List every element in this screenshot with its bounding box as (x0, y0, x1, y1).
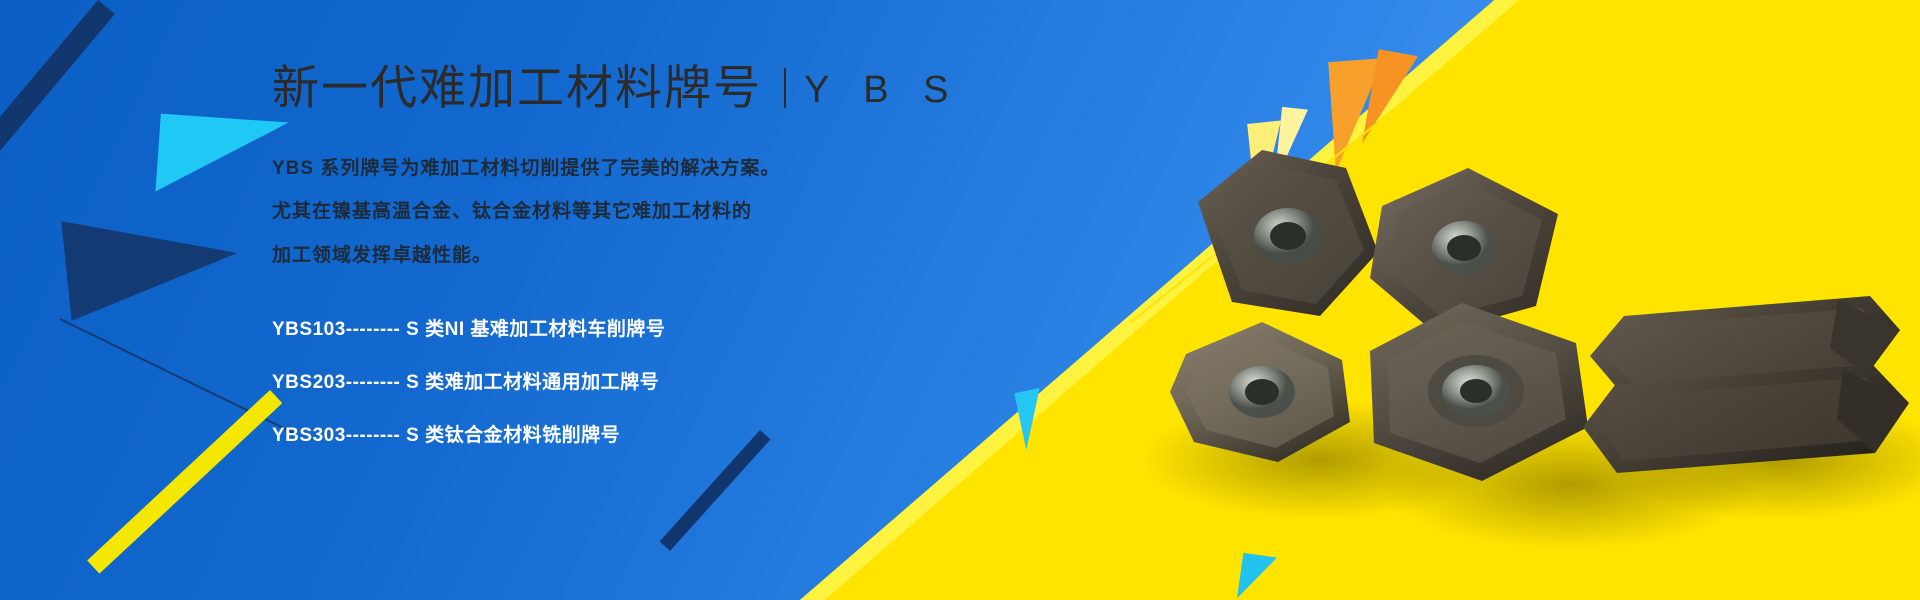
description-block: YBS 系列牌号为难加工材料切削提供了完美的解决方案。 尤其在镍基高温合金、钛合… (272, 154, 1032, 270)
product-banner: 新一代难加工材料牌号 Y B S YBS 系列牌号为难加工材料切削提供了完美的解… (0, 0, 1920, 600)
banner-text-block: 新一代难加工材料牌号 Y B S YBS 系列牌号为难加工材料切削提供了完美的解… (272, 62, 1032, 473)
list-item: YBS203-------- S 类难加工材料通用加工牌号 (272, 367, 1032, 394)
milling-insert (1340, 295, 1610, 495)
navy-diagonal-bar-icon (0, 0, 115, 244)
yellow-diagonal-bar-icon (87, 390, 282, 574)
list-item: YBS303-------- S 类钛合金材料铣削牌号 (272, 420, 1032, 447)
page-title: 新一代难加工材料牌号 Y B S (272, 62, 1032, 114)
bar-insert-lower (1575, 355, 1920, 500)
title-english: Y B S (804, 70, 960, 114)
list-item: YBS103-------- S 类NI 基难加工材料车削牌号 (272, 314, 1032, 341)
description-line: 加工领域发挥卓越性能。 (272, 241, 1032, 270)
title-divider (784, 68, 786, 108)
description-line: 尤其在镍基高温合金、钛合金材料等其它难加工材料的 (272, 197, 1032, 226)
cyan-triangle-icon (155, 114, 288, 201)
model-list: YBS103-------- S 类NI 基难加工材料车削牌号 YBS203--… (272, 314, 1032, 447)
description-line: YBS 系列牌号为难加工材料切削提供了完美的解决方案。 (272, 154, 1032, 183)
cutting-inserts-group (1180, 150, 1920, 570)
navy-triangle-icon (61, 203, 243, 320)
title-chinese: 新一代难加工材料牌号 (272, 62, 762, 114)
